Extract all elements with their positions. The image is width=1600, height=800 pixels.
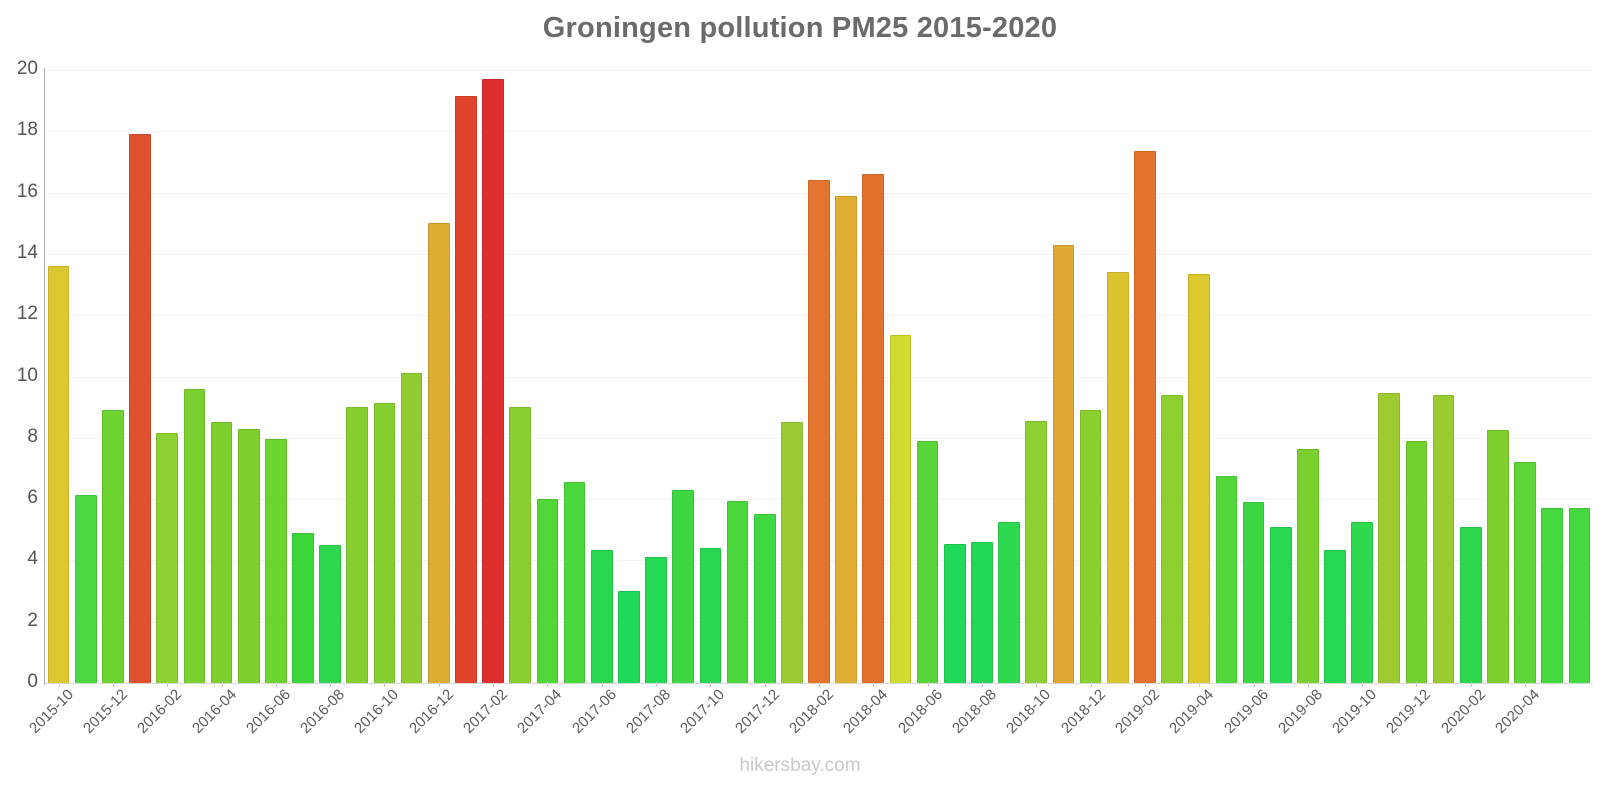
- bar[interactable]: [835, 196, 857, 683]
- bar[interactable]: [102, 410, 124, 683]
- y-tick-label: 12: [0, 303, 38, 325]
- x-tick-label: 2017-08: [614, 686, 674, 746]
- x-tick-label: 2018-10: [994, 686, 1054, 746]
- x-axis-tick-labels: 2015-102015-122016-022016-042016-062016-…: [45, 686, 1593, 766]
- bar[interactable]: [1053, 245, 1075, 683]
- bar[interactable]: [998, 522, 1020, 683]
- x-tick-mark: [928, 682, 929, 687]
- bar[interactable]: [455, 96, 477, 683]
- x-tick-mark: [276, 682, 277, 687]
- x-tick-mark: [222, 682, 223, 687]
- bar[interactable]: [862, 174, 884, 683]
- bar[interactable]: [781, 422, 803, 683]
- x-tick-mark: [656, 682, 657, 687]
- bar[interactable]: [971, 542, 993, 683]
- x-tick-label: 2019-08: [1266, 686, 1326, 746]
- bar[interactable]: [1270, 527, 1292, 683]
- x-tick-label: 2017-06: [560, 686, 620, 746]
- x-tick-mark: [493, 682, 494, 687]
- x-tick-mark: [1091, 682, 1092, 687]
- bar[interactable]: [808, 180, 830, 683]
- bar[interactable]: [700, 548, 722, 683]
- x-tick-label: 2016-08: [288, 686, 348, 746]
- x-tick-label: 2019-02: [1103, 686, 1163, 746]
- x-tick-mark: [1308, 682, 1309, 687]
- x-tick-label: 2018-08: [940, 686, 1000, 746]
- y-tick-label: 6: [0, 487, 38, 509]
- bar[interactable]: [1378, 393, 1400, 683]
- bar[interactable]: [265, 439, 287, 683]
- bar[interactable]: [1541, 508, 1563, 683]
- bar[interactable]: [645, 557, 667, 683]
- x-tick-mark: [710, 682, 711, 687]
- x-tick-mark: [765, 682, 766, 687]
- bar[interactable]: [129, 134, 151, 683]
- x-tick-label: 2017-12: [723, 686, 783, 746]
- x-tick-label: 2016-02: [125, 686, 185, 746]
- x-tick-mark: [1199, 682, 1200, 687]
- x-tick-label: 2019-10: [1320, 686, 1380, 746]
- bar[interactable]: [1134, 151, 1156, 683]
- bar[interactable]: [537, 499, 559, 683]
- bar[interactable]: [672, 490, 694, 683]
- x-tick-label: 2016-12: [397, 686, 457, 746]
- x-tick-mark: [1254, 682, 1255, 687]
- x-tick-mark: [1145, 682, 1146, 687]
- bar[interactable]: [564, 482, 586, 683]
- x-tick-mark: [1525, 682, 1526, 687]
- bar[interactable]: [1324, 550, 1346, 683]
- bar[interactable]: [401, 373, 423, 683]
- bar[interactable]: [1216, 476, 1238, 683]
- y-axis-tick-labels: 02468101214161820: [0, 0, 38, 800]
- x-tick-mark: [547, 682, 548, 687]
- x-tick-mark: [113, 682, 114, 687]
- bar[interactable]: [1297, 449, 1319, 683]
- bar[interactable]: [1487, 430, 1509, 683]
- bar[interactable]: [1025, 421, 1047, 683]
- x-tick-label: 2019-12: [1374, 686, 1434, 746]
- source-credit: hikersbay.com: [0, 755, 1600, 777]
- x-tick-mark: [1471, 682, 1472, 687]
- gridline: [45, 70, 1593, 71]
- x-tick-label: 2017-04: [505, 686, 565, 746]
- x-tick-mark: [1036, 682, 1037, 687]
- x-tick-mark: [59, 682, 60, 687]
- y-tick-label: 8: [0, 426, 38, 448]
- y-tick-label: 4: [0, 548, 38, 570]
- y-tick-label: 20: [0, 58, 38, 80]
- x-tick-label: 2019-04: [1157, 686, 1217, 746]
- x-tick-label: 2020-04: [1483, 686, 1543, 746]
- x-tick-label: 2018-02: [777, 686, 837, 746]
- y-tick-label: 2: [0, 610, 38, 632]
- bar[interactable]: [890, 335, 912, 683]
- bar[interactable]: [292, 533, 314, 683]
- y-tick-label: 14: [0, 242, 38, 264]
- y-tick-label: 0: [0, 671, 38, 693]
- x-tick-mark: [167, 682, 168, 687]
- bar[interactable]: [727, 501, 749, 683]
- bar[interactable]: [917, 441, 939, 683]
- x-tick-label: 2019-06: [1211, 686, 1271, 746]
- bar[interactable]: [1351, 522, 1373, 683]
- gridline: [45, 131, 1593, 132]
- bar[interactable]: [156, 433, 178, 683]
- bar[interactable]: [1569, 508, 1591, 683]
- bar[interactable]: [319, 545, 341, 683]
- bar[interactable]: [1107, 272, 1129, 683]
- chart-title: Groningen pollution PM25 2015-2020: [0, 12, 1600, 45]
- x-tick-mark: [330, 682, 331, 687]
- x-tick-mark: [873, 682, 874, 687]
- bar[interactable]: [1514, 462, 1536, 683]
- x-tick-label: 2017-10: [668, 686, 728, 746]
- bar[interactable]: [48, 266, 70, 683]
- y-tick-label: 16: [0, 181, 38, 203]
- bar[interactable]: [944, 544, 966, 683]
- x-tick-label: 2016-04: [179, 686, 239, 746]
- x-tick-label: 2017-02: [451, 686, 511, 746]
- bar[interactable]: [346, 407, 368, 683]
- bar[interactable]: [211, 422, 233, 683]
- x-tick-label: 2016-10: [342, 686, 402, 746]
- y-tick-label: 10: [0, 365, 38, 387]
- x-tick-mark: [602, 682, 603, 687]
- bar[interactable]: [1433, 395, 1455, 683]
- x-tick-mark: [982, 682, 983, 687]
- bar[interactable]: [374, 403, 396, 683]
- bar[interactable]: [184, 389, 206, 683]
- plot-area: [45, 70, 1593, 683]
- x-tick-label: 2018-06: [886, 686, 946, 746]
- x-tick-label: 2015-12: [71, 686, 131, 746]
- bar[interactable]: [428, 223, 450, 683]
- bar[interactable]: [618, 591, 640, 683]
- x-tick-mark: [439, 682, 440, 687]
- x-tick-mark: [384, 682, 385, 687]
- bar[interactable]: [482, 79, 504, 683]
- pollution-bar-chart: Groningen pollution PM25 2015-2020 02468…: [0, 0, 1600, 800]
- x-tick-label: 2018-04: [831, 686, 891, 746]
- bar[interactable]: [1406, 441, 1428, 683]
- bar[interactable]: [238, 429, 260, 683]
- x-tick-mark: [1416, 682, 1417, 687]
- bar[interactable]: [1080, 410, 1102, 683]
- y-tick-label: 18: [0, 119, 38, 141]
- x-tick-mark: [819, 682, 820, 687]
- bar[interactable]: [1243, 502, 1265, 683]
- bar[interactable]: [754, 514, 776, 683]
- bar[interactable]: [1161, 395, 1183, 683]
- bar[interactable]: [1460, 527, 1482, 683]
- x-tick-mark: [1362, 682, 1363, 687]
- x-tick-label: 2016-06: [234, 686, 294, 746]
- bar[interactable]: [75, 495, 97, 683]
- x-tick-label: 2018-12: [1048, 686, 1108, 746]
- bar[interactable]: [1188, 274, 1210, 683]
- bar[interactable]: [509, 407, 531, 683]
- bar[interactable]: [591, 550, 613, 683]
- x-tick-label: 2020-02: [1429, 686, 1489, 746]
